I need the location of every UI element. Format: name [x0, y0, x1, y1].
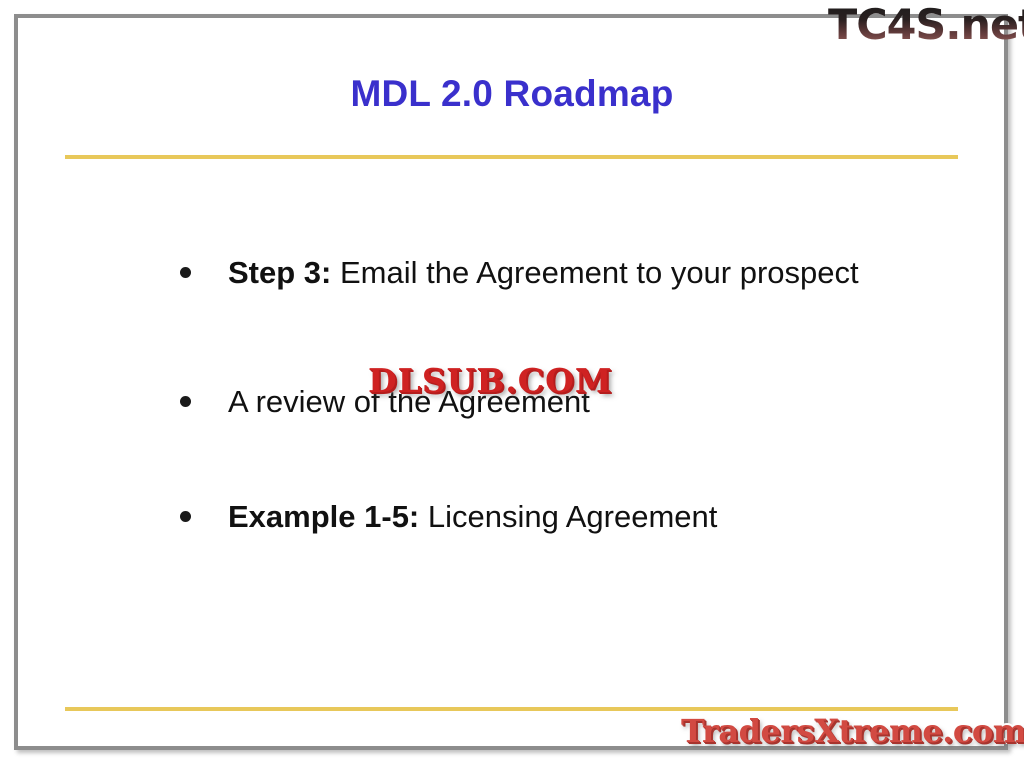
list-item-bold-prefix: Step 3:: [228, 255, 331, 290]
page-title: MDL 2.0 Roadmap: [64, 74, 960, 115]
list-item: Step 3: Email the Agreement to your pros…: [176, 252, 976, 293]
divider-bottom: [65, 707, 958, 711]
list-item-bold-prefix: Example 1-5:: [228, 499, 419, 534]
tradersxtreme-watermark: TradersXtreme.com: [681, 712, 1024, 750]
list-item-body: Email the Agreement to your prospect: [331, 255, 858, 290]
slide-canvas: MDL 2.0 Roadmap Step 3: Email the Agreem…: [0, 0, 1024, 768]
dlsub-watermark: DLSUB.COM: [368, 362, 612, 400]
divider-top: [65, 155, 958, 159]
tc4s-watermark: TC4S.net: [828, 2, 1024, 48]
bullet-dot-icon: [180, 267, 191, 278]
list-item-body: Licensing Agreement: [419, 499, 717, 534]
list-item-text: Step 3: Email the Agreement to your pros…: [176, 252, 976, 293]
bullet-dot-icon: [180, 396, 191, 407]
list-item-text: Example 1-5: Licensing Agreement: [176, 496, 976, 537]
list-item: Example 1-5: Licensing Agreement: [176, 496, 976, 537]
bullet-dot-icon: [180, 511, 191, 522]
